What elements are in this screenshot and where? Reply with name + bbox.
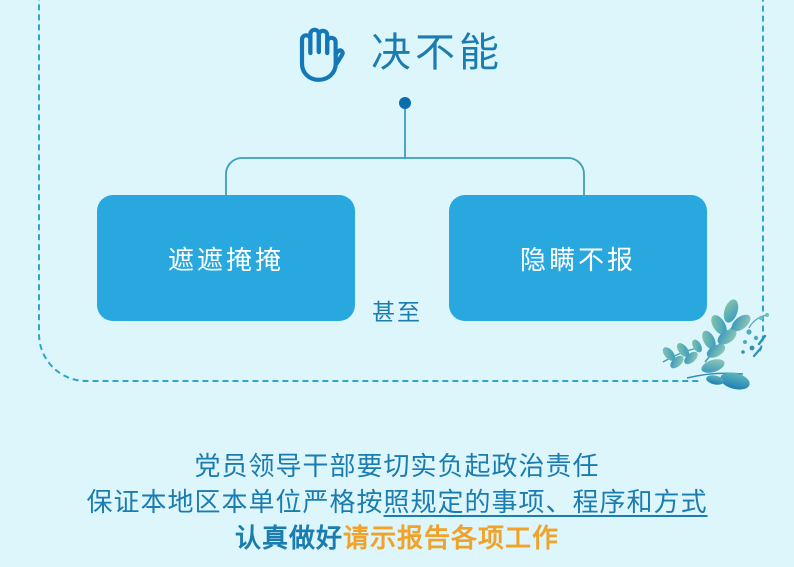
copy-line-2: 保证本地区本单位严格按照规定的事项、程序和方式 (0, 484, 794, 520)
bottom-copy-block: 党员领导干部要切实负起政治责任 保证本地区本单位严格按照规定的事项、程序和方式 … (0, 448, 794, 556)
copy-line-3: 认真做好请示报告各项工作 (0, 520, 794, 556)
frame-mask (700, 352, 794, 398)
connector-root-dot (399, 97, 411, 109)
branch-box-left-label: 遮遮掩掩 (168, 240, 284, 277)
copy-line-2-underlined: 照规定的事项、程序和方式 (384, 487, 708, 517)
copy-line-1: 党员领导干部要切实负起政治责任 (0, 448, 794, 484)
branch-box-right-label: 隐瞒不报 (520, 240, 636, 277)
mid-connector-label: 甚至 (0, 293, 794, 327)
poster-canvas: 决不能 遮遮掩掩 隐瞒不报 甚至 (0, 0, 794, 567)
copy-line-3-highlight: 请示报告各项工作 (343, 523, 559, 553)
connector-graphic (180, 92, 630, 207)
raised-hand-stop-icon (291, 22, 349, 84)
page-title: 决不能 (371, 33, 503, 73)
header: 决不能 (0, 22, 794, 84)
copy-line-2-plain: 保证本地区本单位严格按 (86, 487, 383, 517)
copy-line-3-plain: 认真做好 (235, 523, 343, 553)
